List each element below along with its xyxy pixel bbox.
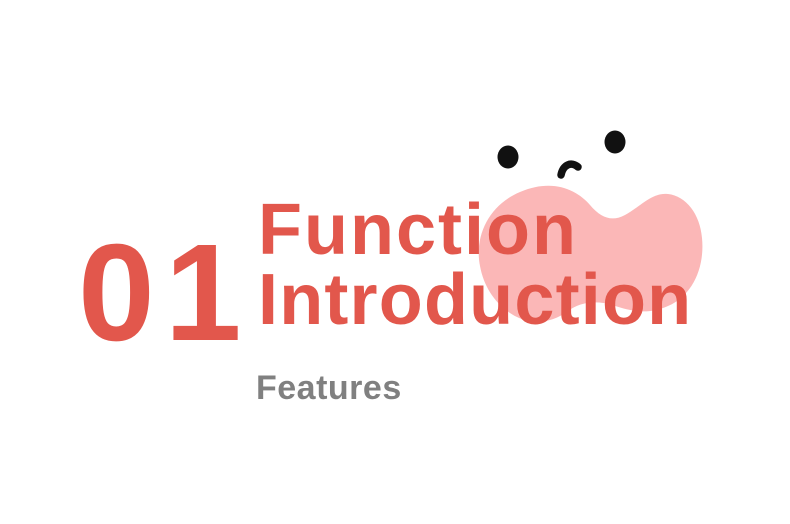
subtitle: Features (256, 371, 402, 405)
smile-mouth-icon (561, 164, 578, 175)
heading-line-2: Introduction (258, 266, 692, 336)
title-slide: 01 Function Introduction Features (0, 0, 790, 524)
heading-line-1: Function (258, 196, 692, 266)
eye-left-icon (498, 146, 519, 169)
section-number: 01 (78, 224, 252, 362)
page-title: Function Introduction (258, 196, 692, 336)
eye-right-icon (605, 131, 626, 154)
